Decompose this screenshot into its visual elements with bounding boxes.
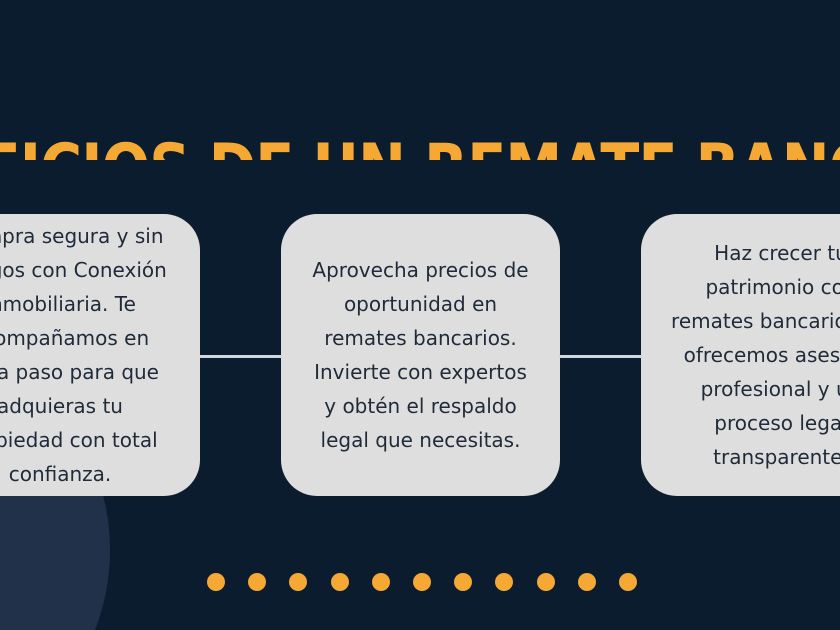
slide-canvas: BENEFICIOS DE UN REMATE BANCARIO Compra …: [0, 0, 840, 630]
benefit-card-1: Compra segura y sin riesgos con Conexión…: [0, 214, 200, 496]
benefit-card-2-text: Aprovecha precios de oportunidad en rema…: [307, 253, 534, 457]
decorative-dot: [619, 573, 637, 591]
decorative-dot: [248, 573, 266, 591]
decorative-dot: [289, 573, 307, 591]
card-connector-left: [200, 355, 282, 358]
decorative-dot: [537, 573, 555, 591]
benefit-card-1-text: Compra segura y sin riesgos con Conexión…: [0, 219, 174, 491]
card-connector-right: [559, 355, 642, 358]
decorative-dot: [372, 573, 390, 591]
decorative-dot: [454, 573, 472, 591]
benefit-cards-row: Compra segura y sin riesgos con Conexión…: [0, 214, 840, 496]
decorative-dot: [331, 573, 349, 591]
benefit-card-2: Aprovecha precios de oportunidad en rema…: [281, 214, 560, 496]
benefit-card-3-text: Haz crecer tu patrimonio con remates ban…: [667, 236, 840, 474]
decorative-dot: [578, 573, 596, 591]
decorative-dot: [413, 573, 431, 591]
page-title: BENEFICIOS DE UN REMATE BANCARIO: [0, 134, 840, 160]
title-container: BENEFICIOS DE UN REMATE BANCARIO: [0, 88, 840, 160]
benefit-card-3: Haz crecer tu patrimonio con remates ban…: [641, 214, 840, 496]
decorative-dot: [207, 573, 225, 591]
dot-row: [207, 572, 637, 592]
decorative-dot: [495, 573, 513, 591]
